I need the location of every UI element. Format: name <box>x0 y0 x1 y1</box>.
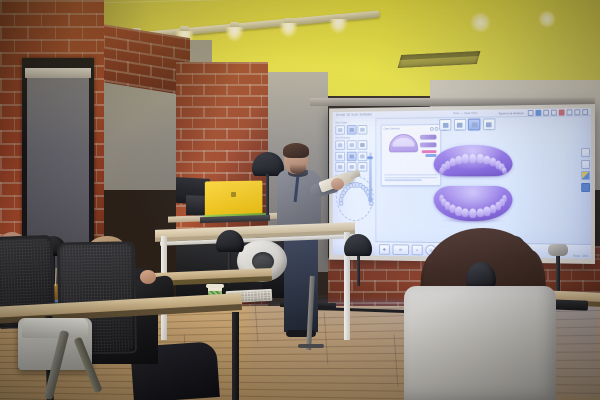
tooth-surface <box>469 208 477 218</box>
stage-review-button[interactable] <box>358 124 368 134</box>
spotlight-glow <box>329 19 348 34</box>
upper-arch-thumbnail <box>389 134 418 152</box>
keyboard-key <box>261 299 263 301</box>
attendee-left-hand <box>140 270 156 284</box>
align-icon <box>442 122 448 127</box>
recessed-downlight <box>470 12 491 33</box>
fullscreen-button[interactable] <box>581 183 590 192</box>
pan-tool[interactable]: ✥ <box>379 244 390 255</box>
presenter-beard <box>290 164 306 174</box>
keyboard-key <box>267 293 269 295</box>
status-zoom: 100% <box>582 255 588 258</box>
keyboard-key <box>261 293 263 295</box>
laptop-logo-icon <box>231 192 236 197</box>
occlusion-icon <box>471 122 477 127</box>
keyboard-key <box>248 294 250 296</box>
keyboard-key <box>251 299 253 301</box>
stage-scan-button[interactable] <box>346 125 356 135</box>
model-opacity-slider[interactable] <box>369 153 372 203</box>
card-window-controls[interactable] <box>430 126 438 130</box>
laptop-bag-flap <box>22 318 88 338</box>
sidebar-group-2-label: Arch Selection <box>335 136 375 139</box>
close-icon[interactable] <box>582 109 588 115</box>
screenshot-button[interactable] <box>581 160 590 169</box>
trim-icon <box>486 122 492 127</box>
presenter-hand <box>331 178 344 190</box>
arch-both-button[interactable] <box>358 140 368 150</box>
measure-icon <box>457 122 463 127</box>
stool-foot-ring <box>298 344 324 348</box>
signed-in-label: Signed in as dental.pro <box>499 112 524 115</box>
arch-lower-button[interactable] <box>346 140 356 150</box>
app-title: Dental 3D Scan Software <box>336 112 372 116</box>
occlusal-button[interactable] <box>346 151 356 161</box>
presenter-hair <box>283 143 309 158</box>
sync-icon[interactable] <box>535 110 541 116</box>
app-center-title: Scan — Case View <box>453 111 477 115</box>
occlusion-tool-caption: Occlusion <box>470 129 479 131</box>
spotlight-glow <box>225 27 244 42</box>
rotate-tool[interactable]: ⟳ <box>393 244 409 255</box>
record-icon[interactable] <box>559 110 565 116</box>
measure-tool[interactable]: Measure <box>454 119 466 131</box>
minimize-icon[interactable] <box>567 110 573 116</box>
keyboard-key <box>258 294 260 296</box>
titlebar-right-cluster[interactable]: Signed in as dental.pro <box>499 109 588 116</box>
desk-lamp-stem <box>266 174 269 220</box>
align-tool[interactable]: Align <box>439 119 451 131</box>
maximize-icon[interactable] <box>574 109 580 115</box>
keyboard-key <box>251 294 253 296</box>
gooseneck-head <box>548 244 568 256</box>
sidebar-row-1[interactable] <box>333 124 376 134</box>
keyboard-key <box>254 294 256 296</box>
align-tool-caption: Align <box>443 130 448 132</box>
track-spotlight <box>230 22 239 35</box>
keyboard-key <box>255 299 257 301</box>
keyboard-key <box>244 294 246 296</box>
keyboard-key <box>264 298 266 300</box>
spotlight-glow <box>279 23 298 38</box>
occlusion-tool[interactable]: Occlusion <box>468 119 480 131</box>
color-mode-button[interactable] <box>581 171 590 180</box>
keyboard-key <box>258 299 260 301</box>
settings-icon[interactable] <box>543 110 549 116</box>
view-reset-button[interactable] <box>581 148 590 157</box>
arch-upper-button[interactable] <box>335 140 345 150</box>
stage-prep-button[interactable] <box>335 125 345 135</box>
coffee-cup-lid <box>206 284 224 288</box>
sidebar-group-1-label: Scan Stage <box>335 121 375 124</box>
arch-side-view-a <box>420 135 437 140</box>
status-ready: Ready <box>573 255 580 258</box>
trim-tool[interactable]: Trim <box>483 118 495 130</box>
track-spotlight <box>334 14 343 27</box>
top-toolbar[interactable]: AlignMeasureOcclusionTrim <box>439 118 495 130</box>
help-icon[interactable] <box>551 110 557 116</box>
account-icon[interactable] <box>528 110 534 116</box>
quadrant-button[interactable] <box>358 151 368 161</box>
bite-button[interactable] <box>335 151 345 161</box>
lower-arch-scan[interactable] <box>434 186 513 221</box>
right-toolbar[interactable] <box>581 148 590 191</box>
keyboard-key <box>245 299 247 301</box>
blind-headrail <box>25 68 91 78</box>
screenshot-root: Dental 3D Scan Software Scan — Case View… <box>0 0 600 400</box>
implant-button[interactable] <box>335 162 345 172</box>
case-summary-card[interactable]: Case Summary <box>381 124 441 186</box>
zoom-tool[interactable]: ⌕ <box>412 244 423 255</box>
keyboard-key <box>268 298 270 300</box>
desk-lamp-stem-d <box>357 254 360 286</box>
case-summary-header: Case Summary <box>384 127 400 130</box>
status-bar: Ready 100% <box>573 255 588 258</box>
track-spotlight <box>284 18 293 31</box>
foreground-chair-right[interactable] <box>404 286 556 400</box>
keyboard-key <box>264 293 266 295</box>
slider-knob[interactable] <box>368 156 373 159</box>
tooth-surface <box>469 154 477 164</box>
upper-arch-scan[interactable] <box>434 145 513 177</box>
measure-tool-caption: Measure <box>456 130 464 132</box>
case-summary-note <box>384 175 437 183</box>
tooth-surface <box>502 195 507 202</box>
keyboard-key <box>248 299 250 301</box>
sidebar-row-2[interactable] <box>333 140 376 150</box>
trim-tool-caption: Trim <box>487 129 491 131</box>
card-close-icon[interactable] <box>435 126 439 130</box>
foreground-desk-leg-b <box>232 312 239 400</box>
card-minimize-icon[interactable] <box>430 127 434 131</box>
